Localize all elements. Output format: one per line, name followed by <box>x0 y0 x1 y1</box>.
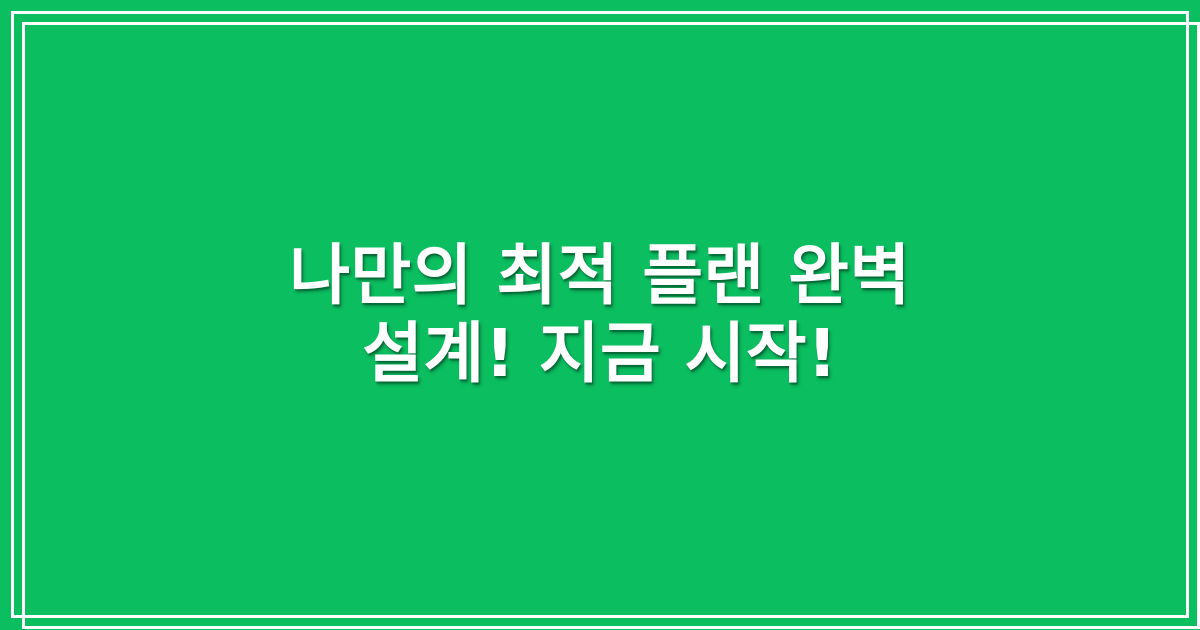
banner-headline: 나만의 최적 플랜 완벽 설계! 지금 시작! <box>289 237 910 393</box>
promo-banner: 나만의 최적 플랜 완벽 설계! 지금 시작! <box>0 0 1200 630</box>
headline-container: 나만의 최적 플랜 완벽 설계! 지금 시작! <box>0 0 1200 630</box>
